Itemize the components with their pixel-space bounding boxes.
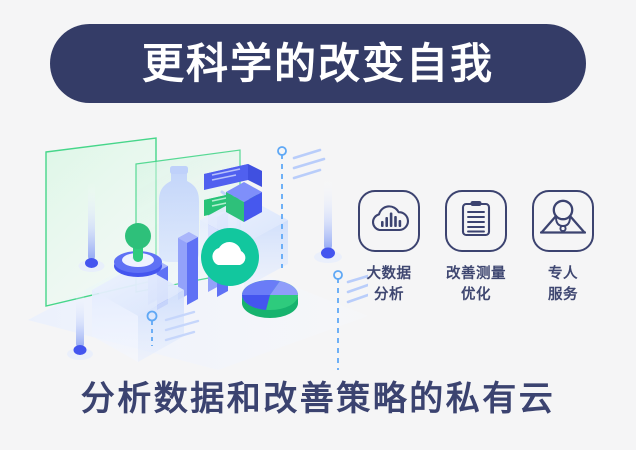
feature-label-line2: 分析 — [367, 285, 412, 306]
clipboard-icon — [459, 200, 493, 243]
feature-label-line1: 专人 — [548, 264, 578, 285]
speed-lines-top-right — [294, 150, 324, 178]
feature-item-improvement-measurement[interactable]: 改善测量 优化 — [439, 190, 513, 306]
feature-label-line1: 大数据 — [367, 264, 412, 285]
feature-label-line2: 服务 — [548, 285, 578, 306]
feature-item-big-data[interactable]: 大数据 分析 — [352, 190, 426, 306]
feature-item-dedicated-service[interactable]: 专人 服务 — [526, 190, 600, 306]
feature-label: 专人 服务 — [548, 264, 578, 306]
feature-icon-box — [358, 190, 420, 252]
pie-chart-3d — [242, 280, 298, 318]
cloud-badge — [201, 228, 259, 286]
support-person-icon — [540, 199, 586, 244]
footer-slogan: 分析数据和改善策略的私有云 — [0, 382, 636, 416]
feature-icon-box — [445, 190, 507, 252]
cloud-bar-chart-icon — [369, 203, 409, 240]
feature-label-line2: 优化 — [446, 285, 506, 306]
feature-label: 改善测量 优化 — [446, 264, 506, 306]
banner-title: 更科学的改变自我 — [142, 43, 494, 85]
feature-label-line1: 改善测量 — [446, 264, 506, 285]
pin-marker-right — [314, 178, 342, 263]
feature-icon-box — [532, 190, 594, 252]
header-banner: 更科学的改变自我 — [50, 24, 586, 103]
feature-list: 大数据 分析 — [352, 190, 600, 330]
illustration-isometric-scene — [28, 120, 368, 370]
promo-banner-page: 更科学的改变自我 — [0, 0, 636, 450]
feature-label: 大数据 分析 — [367, 264, 412, 306]
